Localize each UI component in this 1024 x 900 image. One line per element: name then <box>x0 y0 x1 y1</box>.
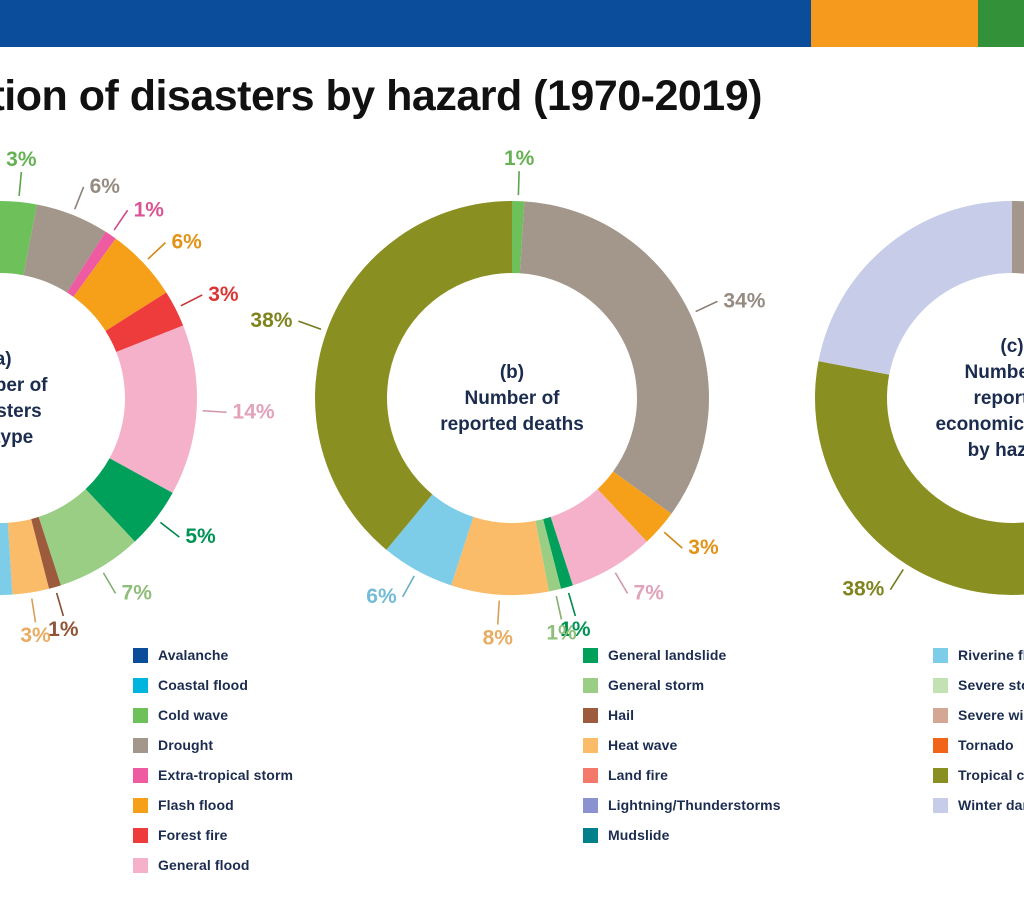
donut-percent-label: 34% <box>723 289 765 312</box>
legend-swatch-icon <box>933 768 948 783</box>
donut-center-label-line: reported <box>973 388 1024 409</box>
legend-item-label: Coastal flood <box>158 677 248 693</box>
donut-percent-label: 38% <box>842 578 884 601</box>
legend-item-label: General flood <box>158 857 250 873</box>
legend-item-label: Tropical cyclone <box>958 767 1024 783</box>
legend-item[interactable]: Land fire <box>583 760 781 790</box>
top-color-bar <box>0 0 1024 47</box>
legend-item[interactable]: General landslide <box>583 640 781 670</box>
donut-percent-label: 3% <box>208 283 239 306</box>
donut-percent-label: 7% <box>634 581 665 604</box>
legend-item-label: Lightning/Thunderstorms <box>608 797 781 813</box>
legend-item[interactable]: Severe storm <box>933 670 1024 700</box>
donut-leader-line <box>664 532 682 548</box>
legend-item[interactable]: Hail <box>583 700 781 730</box>
legend-swatch-icon <box>933 678 948 693</box>
legend-column-2: General landslideGeneral stormHailHeat w… <box>583 640 781 850</box>
legend-item[interactable]: Extra-tropical storm <box>133 760 293 790</box>
donut-percent-label: 3% <box>6 148 37 171</box>
donut-leader-line <box>103 573 115 594</box>
legend-item-label: General storm <box>608 677 704 693</box>
legend-column-1: AvalancheCoastal floodCold waveDroughtEx… <box>133 640 293 880</box>
donut-svg-a: 3%6%1%6%3%14%5%7%1%3%5%(a)Number ofdisas… <box>0 150 222 640</box>
donut-chart-c: 1%1%4%38%(c)Number ofreportedeconomic lo… <box>790 150 1024 640</box>
legend-item-label: Severe winter <box>958 707 1024 723</box>
donut-leader-line <box>148 243 165 259</box>
donut-leader-line <box>32 599 36 623</box>
legend-item[interactable]: Flash flood <box>133 790 293 820</box>
legend-swatch-icon <box>133 678 148 693</box>
legend-item-label: Winter damage <box>958 797 1024 813</box>
donut-percent-label: 7% <box>122 581 153 604</box>
donut-leader-line <box>57 593 64 616</box>
legend-item[interactable]: Tropical cyclone <box>933 760 1024 790</box>
legend-swatch-icon <box>133 798 148 813</box>
legend-item[interactable]: Riverine flood <box>933 640 1024 670</box>
legend-swatch-icon <box>583 708 598 723</box>
donut-center-label-line: by type <box>0 427 33 448</box>
legend-item[interactable]: Drought <box>133 730 293 760</box>
legend-swatch-icon <box>133 648 148 663</box>
legend-swatch-icon <box>133 768 148 783</box>
donut-percent-label: 6% <box>171 231 202 254</box>
donut-leader-line <box>403 576 415 597</box>
donut-svg-c: 1%1%4%38%(c)Number ofreportedeconomic lo… <box>790 150 1024 640</box>
legend-item[interactable]: Lightning/Thunderstorms <box>583 790 781 820</box>
donut-percent-label: 3% <box>688 536 719 559</box>
legend-item[interactable]: Forest fire <box>133 820 293 850</box>
legend: AvalancheCoastal floodCold waveDroughtEx… <box>0 640 1024 900</box>
donut-percent-label: 1% <box>48 618 79 641</box>
donut-slice <box>520 201 709 513</box>
legend-item-label: Tornado <box>958 737 1014 753</box>
legend-item[interactable]: Coastal flood <box>133 670 293 700</box>
donut-leader-line <box>556 596 561 619</box>
donut-leader-line <box>569 593 576 616</box>
donut-leader-line <box>19 172 21 196</box>
donut-leader-line <box>696 301 718 311</box>
legend-swatch-icon <box>583 828 598 843</box>
donut-center-label-line: (c) <box>1000 336 1023 357</box>
donut-leader-line <box>181 295 202 306</box>
legend-item-label: Severe storm <box>958 677 1024 693</box>
donut-center-label-line: Number of <box>0 375 48 396</box>
legend-swatch-icon <box>133 828 148 843</box>
topbar-segment-orange <box>811 0 978 47</box>
donut-percent-label: 1% <box>504 147 535 170</box>
donut-center-label-line: disasters <box>0 401 42 422</box>
donut-slice <box>315 201 512 550</box>
topbar-segment-green <box>978 0 1024 47</box>
donut-center-label-line: (a) <box>0 349 12 370</box>
legend-swatch-icon <box>933 738 948 753</box>
donut-chart-b: 1%34%3%7%1%1%8%6%38%(b)Number ofreported… <box>282 150 742 640</box>
donut-leader-line <box>75 187 84 209</box>
legend-swatch-icon <box>933 708 948 723</box>
legend-item[interactable]: Tornado <box>933 730 1024 760</box>
legend-swatch-icon <box>133 858 148 873</box>
legend-swatch-icon <box>133 708 148 723</box>
donut-percent-label: 1% <box>134 198 165 221</box>
legend-item-label: Hail <box>608 707 634 723</box>
legend-swatch-icon <box>933 648 948 663</box>
donut-chart-group: 3%6%1%6%3%14%5%7%1%3%5%(a)Number ofdisas… <box>0 150 1024 640</box>
legend-column-3: Riverine floodSevere stormSevere winterT… <box>933 640 1024 820</box>
legend-swatch-icon <box>583 648 598 663</box>
legend-item-label: Drought <box>158 737 213 753</box>
legend-item-label: Extra-tropical storm <box>158 767 293 783</box>
legend-item-label: General landslide <box>608 647 726 663</box>
legend-swatch-icon <box>583 678 598 693</box>
legend-item[interactable]: Cold wave <box>133 700 293 730</box>
legend-item-label: Riverine flood <box>958 647 1024 663</box>
topbar-segment-blue <box>0 0 811 47</box>
donut-center-label-line: Number of <box>465 388 561 409</box>
legend-item[interactable]: Severe winter <box>933 700 1024 730</box>
donut-percent-label: 6% <box>366 585 397 608</box>
donut-svg-b: 1%34%3%7%1%1%8%6%38%(b)Number ofreported… <box>282 150 742 640</box>
donut-leader-line <box>160 522 179 537</box>
legend-item-label: Flash flood <box>158 797 234 813</box>
legend-swatch-icon <box>583 738 598 753</box>
donut-percent-label: 38% <box>250 309 292 332</box>
legend-item-label: Heat wave <box>608 737 677 753</box>
donut-leader-line <box>114 210 127 230</box>
legend-item-label: Forest fire <box>158 827 228 843</box>
donut-center-label-line: by hazard <box>968 440 1024 461</box>
donut-leader-line <box>203 411 227 413</box>
donut-percent-label: 5% <box>185 525 216 548</box>
legend-swatch-icon <box>583 768 598 783</box>
donut-leader-line <box>890 569 903 589</box>
legend-item[interactable]: General storm <box>583 670 781 700</box>
page-title: Distribution of disasters by hazard (197… <box>0 72 1024 121</box>
legend-swatch-icon <box>933 798 948 813</box>
donut-percent-label: 14% <box>233 400 275 423</box>
donut-center-label-line: Number of <box>965 362 1024 383</box>
donut-center-label-line: economic losses <box>935 414 1024 435</box>
donut-center-label-line: reported deaths <box>440 414 584 435</box>
donut-center-label-line: (b) <box>500 362 524 383</box>
legend-item[interactable]: General flood <box>133 850 293 880</box>
donut-leader-line <box>498 601 500 625</box>
legend-item-label: Cold wave <box>158 707 228 723</box>
legend-item[interactable]: Mudslide <box>583 820 781 850</box>
legend-item[interactable]: Winter damage <box>933 790 1024 820</box>
legend-item[interactable]: Avalanche <box>133 640 293 670</box>
donut-chart-a: 3%6%1%6%3%14%5%7%1%3%5%(a)Number ofdisas… <box>0 150 222 640</box>
legend-item[interactable]: Heat wave <box>583 730 781 760</box>
donut-leader-line <box>518 171 519 195</box>
donut-leader-line <box>298 321 321 329</box>
legend-item-label: Land fire <box>608 767 668 783</box>
legend-item-label: Avalanche <box>158 647 228 663</box>
legend-swatch-icon <box>133 738 148 753</box>
legend-item-label: Mudslide <box>608 827 669 843</box>
donut-leader-line <box>615 573 627 594</box>
donut-slice <box>818 201 1012 375</box>
donut-slice <box>1012 201 1024 297</box>
donut-percent-label: 6% <box>90 175 121 198</box>
legend-swatch-icon <box>583 798 598 813</box>
